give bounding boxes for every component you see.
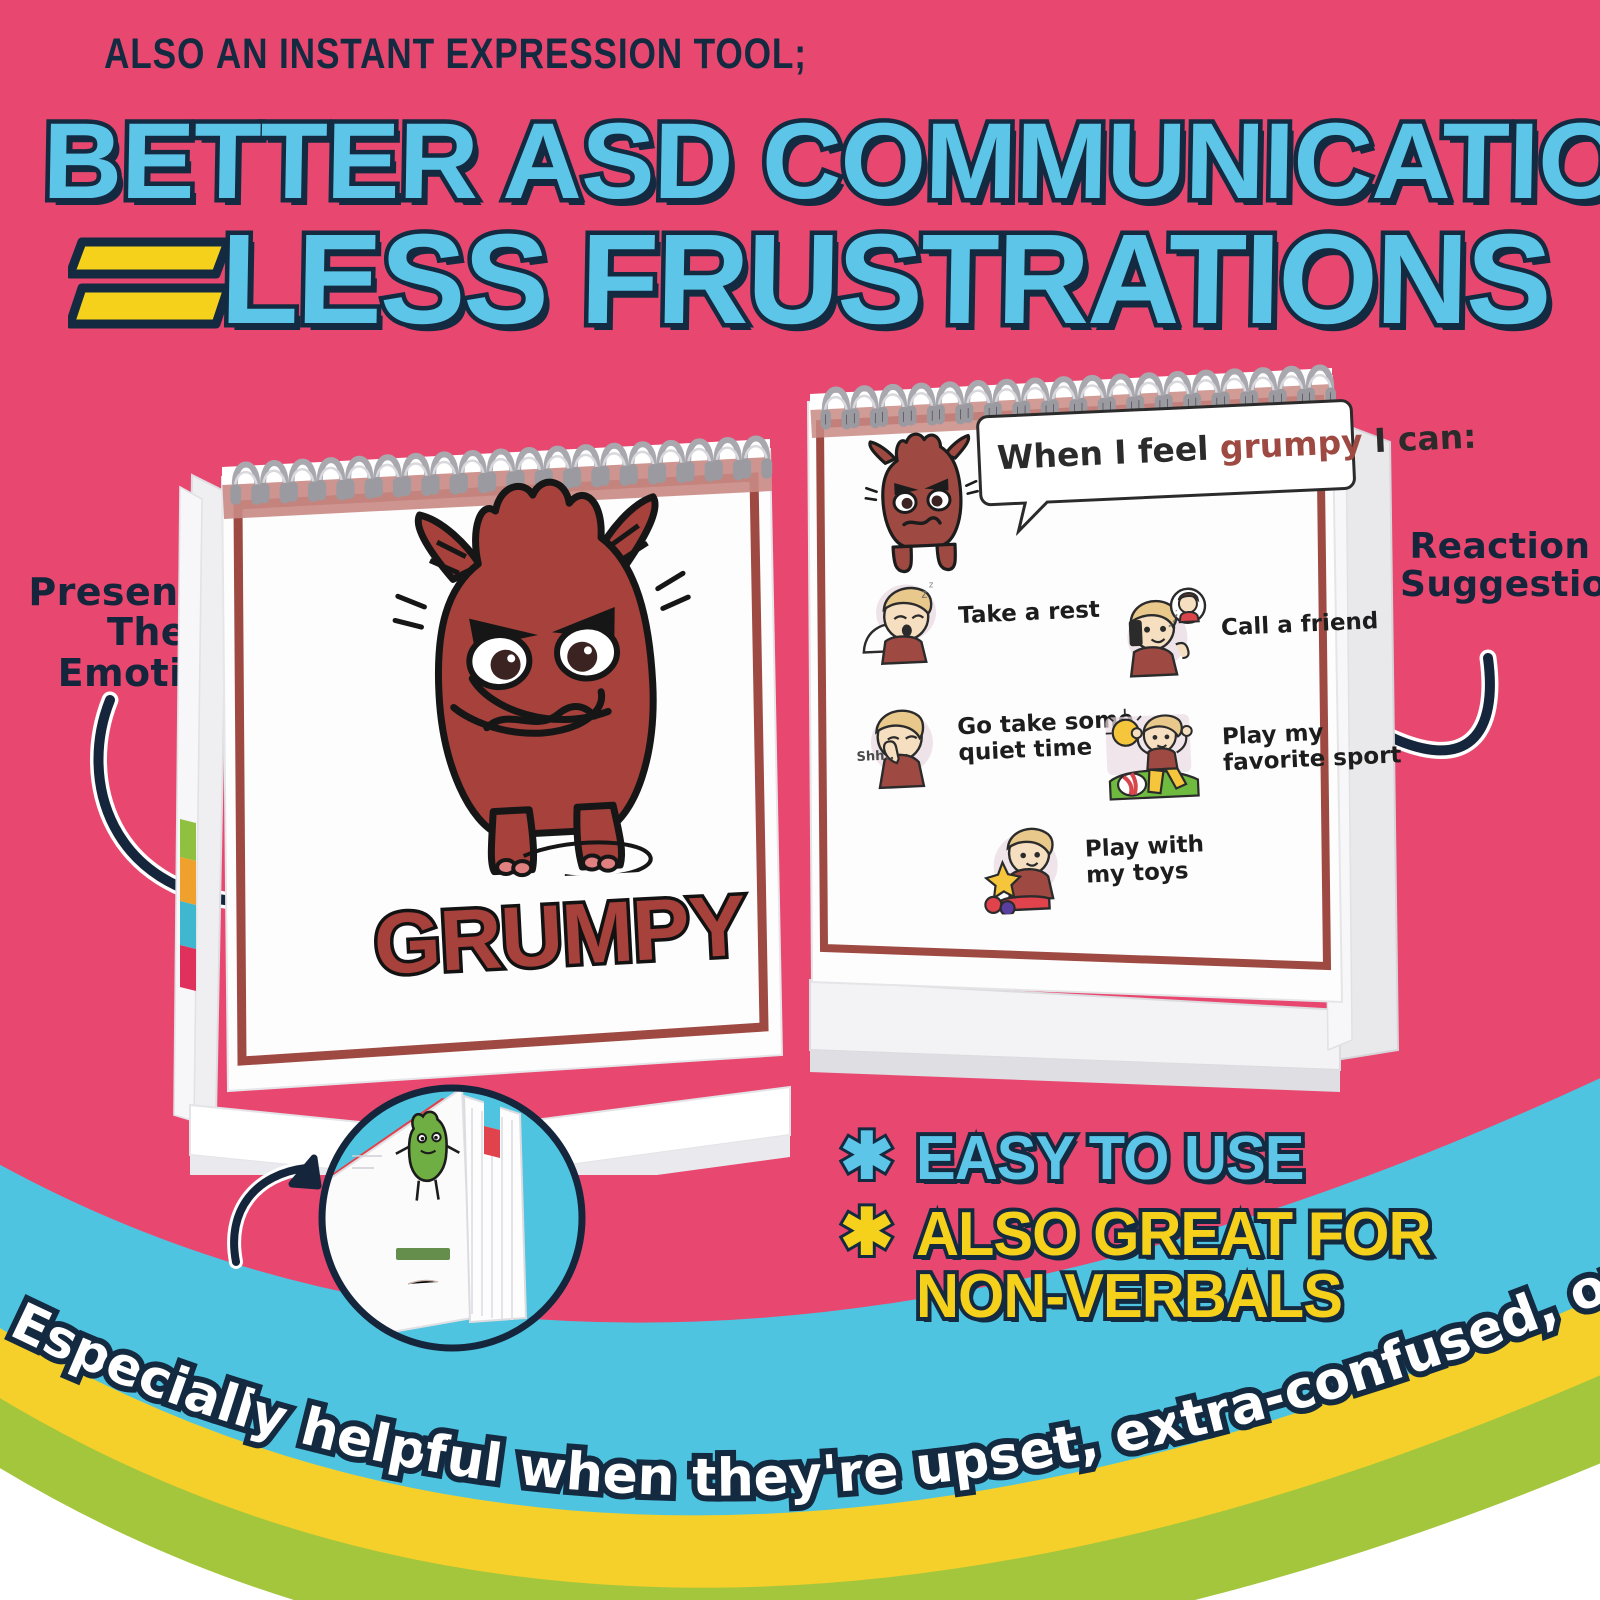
ball-play-child-icon xyxy=(1099,703,1213,804)
suggestion-call-a-friend[interactable]: Call a friend xyxy=(1111,575,1380,679)
phone-call-child-icon xyxy=(1111,583,1211,679)
emotion-word-inline: grumpy xyxy=(1219,422,1364,467)
emotion-word: GRUMPY xyxy=(371,877,747,995)
svg-text:z: z xyxy=(921,587,928,601)
poster-canvas: Especially helpful when they're upset, e… xyxy=(0,0,1600,1600)
bullet-easy-to-use: ✱ EASY TO USE xyxy=(840,1128,1452,1190)
suggestion-take-a-rest[interactable]: z z Take a rest xyxy=(852,564,1102,667)
asterisk-icon: ✱ xyxy=(840,1204,894,1262)
bullet-non-verbals: ✱ ALSO GREAT FOR NON-VERBALS xyxy=(840,1204,1452,1328)
left-page-content: GRUMPY xyxy=(150,379,869,1174)
headline-line-1: BETTER ASD COMMUNICATION xyxy=(42,98,1600,223)
svg-text:Shh..: Shh.. xyxy=(856,748,894,765)
feature-bullets: ✱ EASY TO USE ✱ ALSO GREAT FOR NON-VERBA… xyxy=(840,1128,1452,1342)
suggestion-label: Take a rest xyxy=(958,597,1101,630)
suggestion-label: Play with my toys xyxy=(1084,831,1205,889)
suggestion-label: Play my favorite sport xyxy=(1221,716,1402,777)
equals-sign-icon xyxy=(68,232,236,332)
header-kicker: ALSO AN INSTANT EXPRESSION TOOL; xyxy=(104,30,807,79)
grumpy-monster-icon xyxy=(369,448,721,885)
bullet-label: ALSO GREAT FOR NON-VERBALS xyxy=(916,1204,1431,1328)
sleeping-child-icon: z z xyxy=(852,571,948,667)
asterisk-icon: ✱ xyxy=(840,1128,894,1186)
suggestion-label: Call a friend xyxy=(1220,608,1378,642)
suggestion-play-with-toys[interactable]: Play with my toys xyxy=(972,809,1207,915)
right-page-content: When I feel grumpy I can: z z Take a res… xyxy=(780,321,1455,1139)
grumpy-monster-thumb-icon xyxy=(854,421,991,577)
suggestion-favorite-sport[interactable]: Play my favorite sport xyxy=(1099,694,1403,804)
toy-play-child-icon xyxy=(972,815,1076,915)
svg-text:z: z xyxy=(929,580,934,590)
shh-quiet-child-icon: Shh.. xyxy=(852,695,948,791)
bullet-label: EASY TO USE xyxy=(916,1128,1303,1190)
suggestion-quiet-time[interactable]: Shh.. Go take some quiet time xyxy=(852,686,1136,791)
arrow-magnifier-icon xyxy=(196,1140,356,1270)
